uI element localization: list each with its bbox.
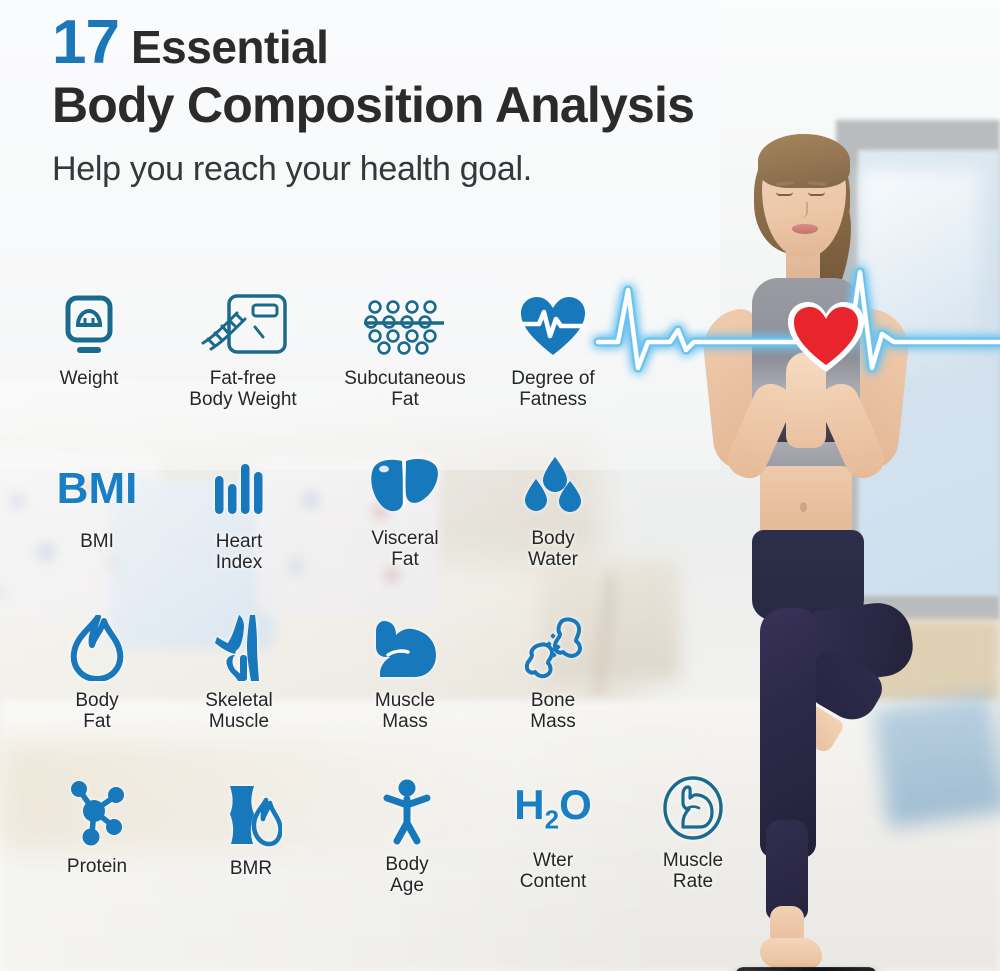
navel: [800, 502, 807, 512]
feature-label: Body Fat: [22, 691, 172, 732]
feature-bmr[interactable]: BMR: [176, 778, 326, 880]
feature-label: BMR: [176, 859, 326, 880]
feature-degree-of-fatness[interactable]: Degree of Fatness: [478, 288, 628, 410]
torso-flame-icon: [176, 778, 326, 854]
feature-muscle-mass[interactable]: Muscle Mass: [330, 610, 480, 732]
feature-visceral-fat[interactable]: Visceral Fat: [330, 448, 480, 570]
feature-subcutaneous-fat[interactable]: Subcutaneous Fat: [330, 288, 480, 410]
headline-line-1: 17 Essential: [52, 12, 772, 74]
bathroom-scale-icon: [14, 288, 164, 364]
feature-label: Fat-free Body Weight: [168, 369, 318, 410]
lips: [792, 224, 818, 234]
feature-label: Protein: [22, 857, 172, 878]
feature-count: 17: [52, 12, 119, 74]
feature-label: Heart Index: [164, 532, 314, 573]
feature-label: Skeletal Muscle: [164, 691, 314, 732]
feature-label: Muscle Rate: [618, 851, 768, 892]
red-heart-badge: [786, 300, 866, 376]
bone-segments-icon: [478, 610, 628, 686]
headline-subtitle: Help you reach your health goal.: [52, 152, 772, 186]
bmi-wordmark-text: BMI: [57, 467, 138, 511]
feature-fat-free-weight[interactable]: Fat-free Body Weight: [168, 288, 318, 410]
feature-label: Muscle Mass: [330, 691, 480, 732]
stick-figure-icon: [332, 774, 482, 850]
feature-label: Visceral Fat: [330, 529, 480, 570]
eye-right-closed: [808, 192, 825, 196]
flexed-bicep-icon: [330, 610, 480, 686]
bicep-in-circle-icon: [618, 770, 768, 846]
bar-chart-icon: [164, 451, 314, 527]
midriff: [760, 466, 852, 536]
feature-label: Subcutaneous Fat: [330, 369, 480, 410]
feature-label: BMI: [22, 532, 172, 553]
heart-pulse-icon: [478, 288, 628, 364]
foot-standing: [760, 938, 822, 968]
feature-weight[interactable]: Weight: [14, 288, 164, 390]
feature-muscle-rate[interactable]: Muscle Rate: [618, 770, 768, 892]
feature-protein[interactable]: Protein: [22, 776, 172, 878]
feature-label: Degree of Fatness: [478, 369, 628, 410]
water-droplets-icon: [478, 448, 628, 524]
dna-scale-icon: [168, 288, 318, 364]
feature-body-age[interactable]: Body Age: [332, 774, 482, 896]
fat-cells-dots-icon: [330, 288, 480, 364]
eye-left-closed: [776, 192, 793, 196]
nose: [800, 202, 808, 218]
feature-label: Bone Mass: [478, 691, 628, 732]
feature-body-fat[interactable]: Body Fat: [22, 610, 172, 732]
feature-label: Body Water: [478, 529, 628, 570]
feature-bone-mass[interactable]: Bone Mass: [478, 610, 628, 732]
feature-water-content[interactable]: H2O Wter Content: [478, 770, 628, 892]
headline-essential: Essential: [131, 24, 329, 70]
infographic-canvas: 17 Essential Body Composition Analysis H…: [0, 0, 1000, 971]
knee-joint-icon: [164, 610, 314, 686]
liver-icon: [330, 448, 480, 524]
feature-heart-index[interactable]: Heart Index: [164, 451, 314, 573]
feature-body-water[interactable]: Body Water: [478, 448, 628, 570]
bmi-wordmark: BMI: [22, 451, 172, 527]
feature-label: Weight: [14, 369, 164, 390]
molecule-icon: [22, 776, 172, 852]
h2o-wordmark-text: H2O: [514, 784, 591, 832]
h2o-wordmark: H2O: [478, 770, 628, 846]
headline-block: 17 Essential Body Composition Analysis H…: [52, 12, 772, 186]
flame-icon: [22, 610, 172, 686]
feature-bmi[interactable]: BMI BMI: [22, 451, 172, 553]
leg-standing-shin: [766, 820, 808, 920]
feature-label: Body Age: [332, 855, 482, 896]
headline-line-2: Body Composition Analysis: [52, 80, 772, 130]
feature-label: Wter Content: [478, 851, 628, 892]
feature-skeletal-muscle[interactable]: Skeletal Muscle: [164, 610, 314, 732]
